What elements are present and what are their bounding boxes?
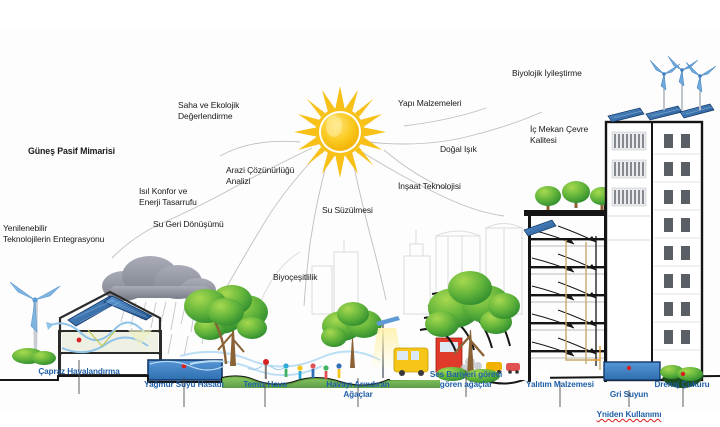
label-saha-ekolojik: Saha ve Ekolojik Değerlendirme	[178, 100, 239, 121]
rainwater-tank	[148, 360, 224, 380]
tower-left-windows	[612, 132, 646, 206]
label-arazi-cozunurlugu: Arazi Çözünürlüğü Analizi	[226, 165, 294, 186]
label-isil-konfor: Isıl Konfor ve Enerji Tasarrufu	[139, 186, 197, 207]
label-temiz-hava: Temiz Hava	[237, 380, 293, 390]
rooftop-trees	[535, 181, 614, 210]
label-yagmur-suyu-hasadi: Yağmur Suyu Hasadı	[138, 380, 230, 390]
label-ses-bariyeri-agaclar: Ses Bariyeri görevi gören ağaçlar	[420, 370, 512, 390]
label-ic-mekan-cevre-kalitesi: İç Mekan Çevre Kalitesi	[530, 124, 588, 145]
rooftop-solar-panels	[608, 104, 714, 122]
label-drenaj-cukuru: Drenaj Çukuru	[646, 380, 718, 390]
label-biyolojik-iyilestirme: Biyolojik İyileştirme	[512, 68, 582, 79]
infographic-stage: Güneş Pasif Mimarisi Yenilenebilir Tekno…	[0, 0, 720, 427]
children-playing	[248, 359, 342, 379]
label-biyocesitlilik: Biyoçeşitlilik	[273, 272, 317, 283]
label-su-geri-donusumu: Su Geri Dönüşümü	[153, 219, 224, 230]
eco-house-section	[46, 292, 164, 377]
infographic-canvas: Güneş Pasif Mimarisi Yenilenebilir Tekno…	[0, 30, 720, 412]
label-capraz-havalandirma: Çapraz Havalandırma	[31, 367, 127, 377]
label-havayi-arindiran-agaclar: Havayı Arındıran Ağaçlar	[318, 380, 398, 400]
label-insaat-teknolojisi: İnşaat Teknolojisi	[398, 181, 461, 192]
greywater-label-line2: Yniden Kullanımı	[597, 410, 662, 419]
tall-residential-tower	[606, 122, 702, 380]
label-gunes-pasif-mimarisi: Güneş Pasif Mimarisi	[28, 146, 115, 157]
scene-svg	[0, 30, 720, 412]
label-su-suzulmesi: Su Süzülmesi	[322, 205, 373, 216]
label-dogal-isik: Doğal Işık	[440, 144, 477, 155]
sun-graphic	[294, 86, 386, 178]
rooftop-wind-turbines	[650, 56, 716, 110]
label-yenilenebilir-teknolojiler: Yenilenebilir Teknolojilerin Entegrasyon…	[3, 223, 104, 244]
label-yapi-malzemeleri: Yapı Malzemeleri	[398, 98, 461, 109]
greywater-label-line1: Gri Suyun	[610, 390, 648, 399]
